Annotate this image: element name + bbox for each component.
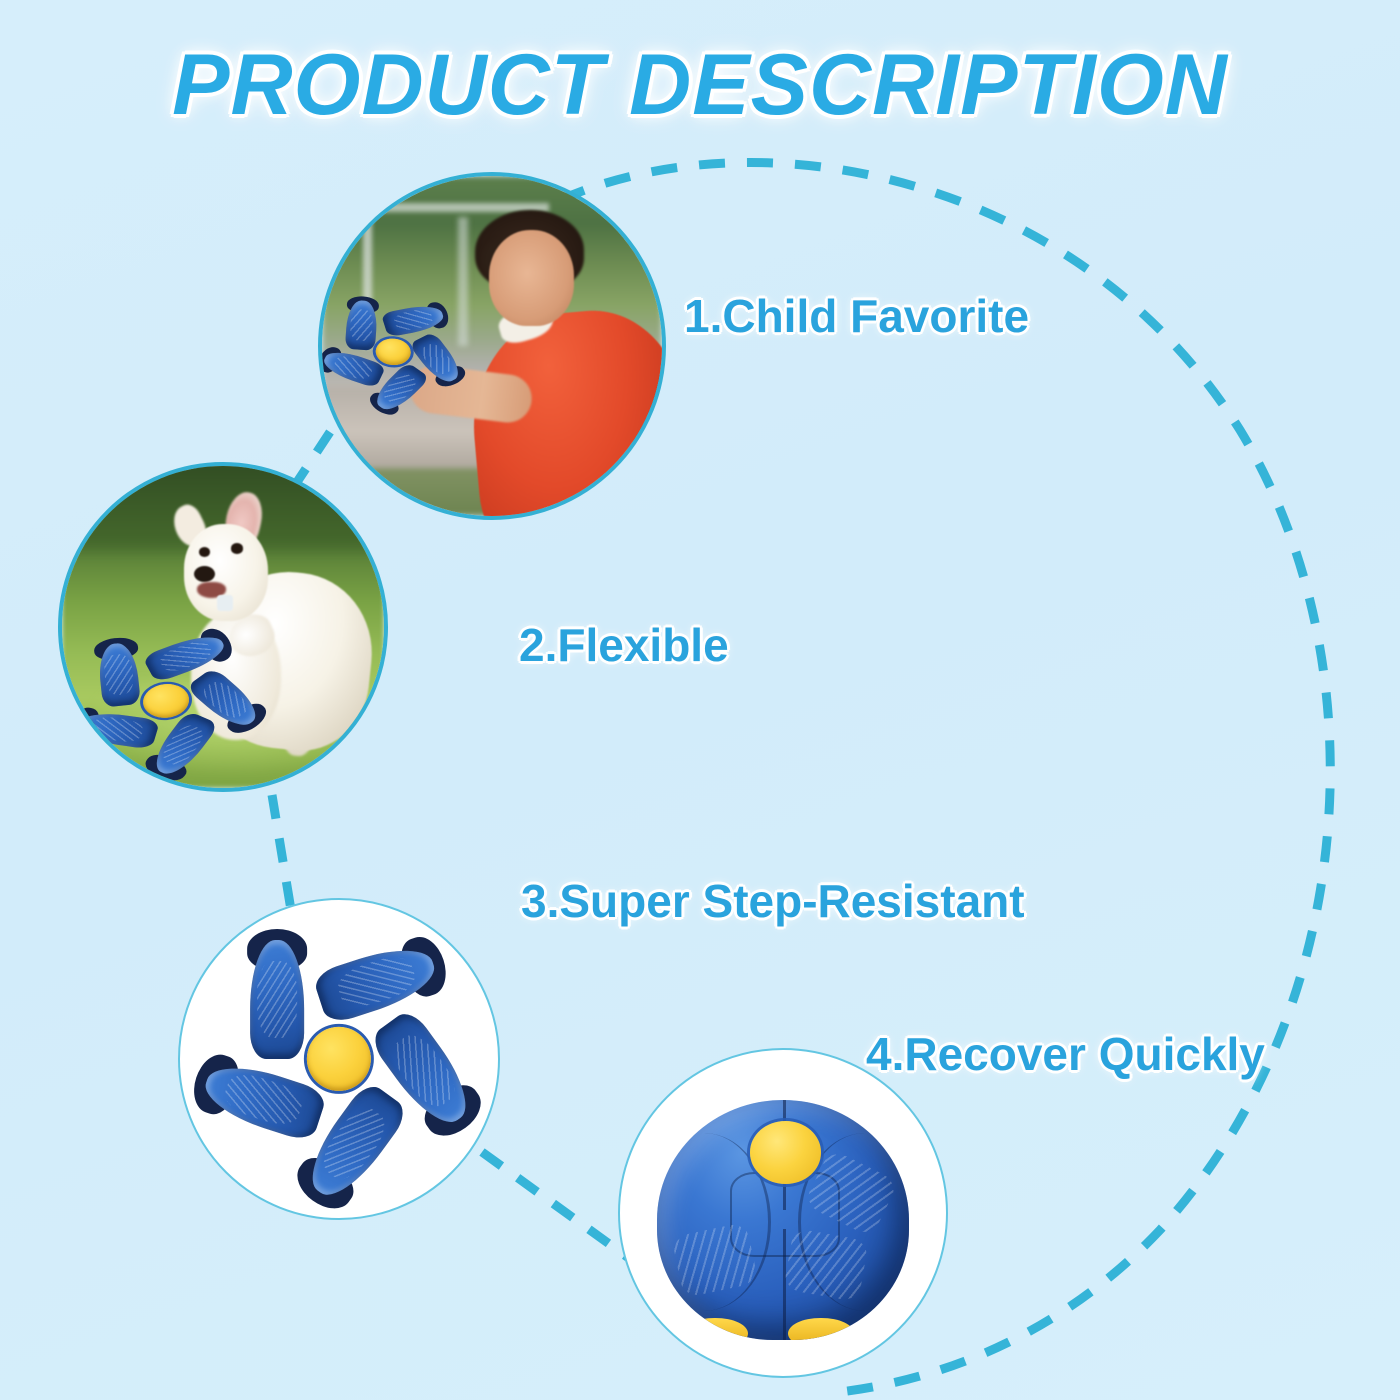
ball-yellow-base-right — [788, 1318, 854, 1340]
ball-rib-texture — [783, 1228, 868, 1303]
flying-disc-toy-flat — [220, 940, 458, 1178]
feature-label-flexible: 2.Flexible — [519, 618, 729, 672]
feature-label-recover-quickly: 4.Recover Quickly — [866, 1027, 1265, 1081]
boy-face — [489, 230, 574, 325]
page-title: PRODUCT DESCRIPTION — [0, 36, 1400, 135]
goal-post — [458, 217, 468, 346]
ball-yellow-base-left — [682, 1318, 748, 1340]
dog-nose — [194, 566, 215, 582]
toy-ball-form — [657, 1100, 909, 1340]
scene-grass — [62, 466, 384, 788]
ball-yellow-center — [750, 1121, 821, 1183]
feature-label-step-resistant: 3.Super Step-Resistant — [521, 874, 1025, 928]
scene-park — [322, 176, 662, 516]
infographic-canvas: PRODUCT DESCRIPTION — [0, 0, 1400, 1400]
feature-label-child-favorite: 1.Child Favorite — [684, 289, 1029, 343]
feature-image-recover-quickly[interactable] — [618, 1048, 948, 1378]
disc-yellow-center — [307, 1027, 371, 1091]
dog-collar-tag — [217, 595, 233, 611]
feature-image-flexible[interactable] — [58, 462, 388, 792]
dog-eye-left — [199, 547, 211, 557]
connector-2-to-3 — [272, 795, 292, 916]
feature-image-step-resistant[interactable] — [178, 898, 500, 1220]
dog-eye-right — [231, 543, 243, 553]
